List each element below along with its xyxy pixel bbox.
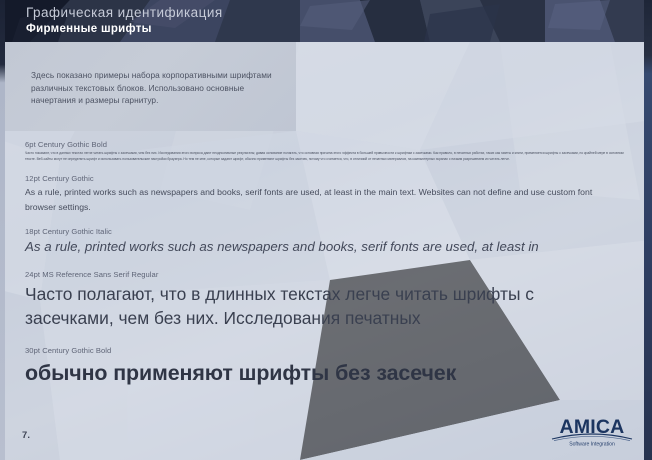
slide-header: Графическая идентификация Фирменные шриф…: [0, 0, 652, 42]
header-text-group: Графическая идентификация Фирменные шриф…: [26, 4, 223, 37]
header-supertitle: Графическая идентификация: [26, 4, 223, 21]
font-samples-list: 6pt Century Gothic Bold Часто показают, …: [25, 139, 633, 388]
font-sample-text: As a rule, printed works such as newspap…: [25, 185, 615, 214]
slide: Графическая идентификация Фирменные шриф…: [0, 0, 652, 460]
font-sample-text: As a rule, printed works such as newspap…: [25, 238, 631, 256]
spacer: [25, 331, 633, 345]
font-sample-text: Часто полагают, что в длинных текстах ле…: [25, 282, 625, 331]
spacer: [25, 162, 633, 173]
amica-logo: AMICA Software Integration: [546, 414, 638, 448]
svg-text:AMICA: AMICA: [560, 416, 625, 438]
amica-logo-icon: AMICA Software Integration: [546, 414, 638, 448]
font-sample-label: 12pt Century Gothic: [25, 173, 633, 184]
slide-right-edge-accent: [644, 0, 652, 460]
svg-text:Software Integration: Software Integration: [569, 441, 615, 447]
font-sample-24pt: 24pt MS Reference Sans Serif Regular Час…: [25, 269, 633, 331]
page-number: 7.: [22, 429, 30, 440]
font-sample-30pt: 30pt Century Gothic Bold обычно применяю…: [25, 345, 633, 388]
font-sample-label: 24pt MS Reference Sans Serif Regular: [25, 269, 633, 280]
font-sample-text: Часто показают, что в данных текстах лег…: [25, 151, 625, 162]
font-sample-text: обычно применяют шрифты без засечек: [25, 359, 633, 388]
font-sample-label: 18pt Century Gothic Italic: [25, 226, 633, 237]
font-sample-18pt: 18pt Century Gothic Italic As a rule, pr…: [25, 226, 633, 256]
font-sample-12pt: 12pt Century Gothic As a rule, printed w…: [25, 173, 633, 214]
intro-paragraph: Здесь показано примеры набора корпоратив…: [31, 69, 283, 107]
spacer: [25, 256, 633, 269]
font-sample-label: 30pt Century Gothic Bold: [25, 345, 633, 356]
spacer: [25, 214, 633, 226]
header-title: Фирменные шрифты: [26, 22, 223, 37]
font-sample-label: 6pt Century Gothic Bold: [25, 139, 633, 150]
font-sample-6pt: 6pt Century Gothic Bold Часто показают, …: [25, 139, 633, 162]
slide-left-edge-accent: [0, 0, 5, 460]
